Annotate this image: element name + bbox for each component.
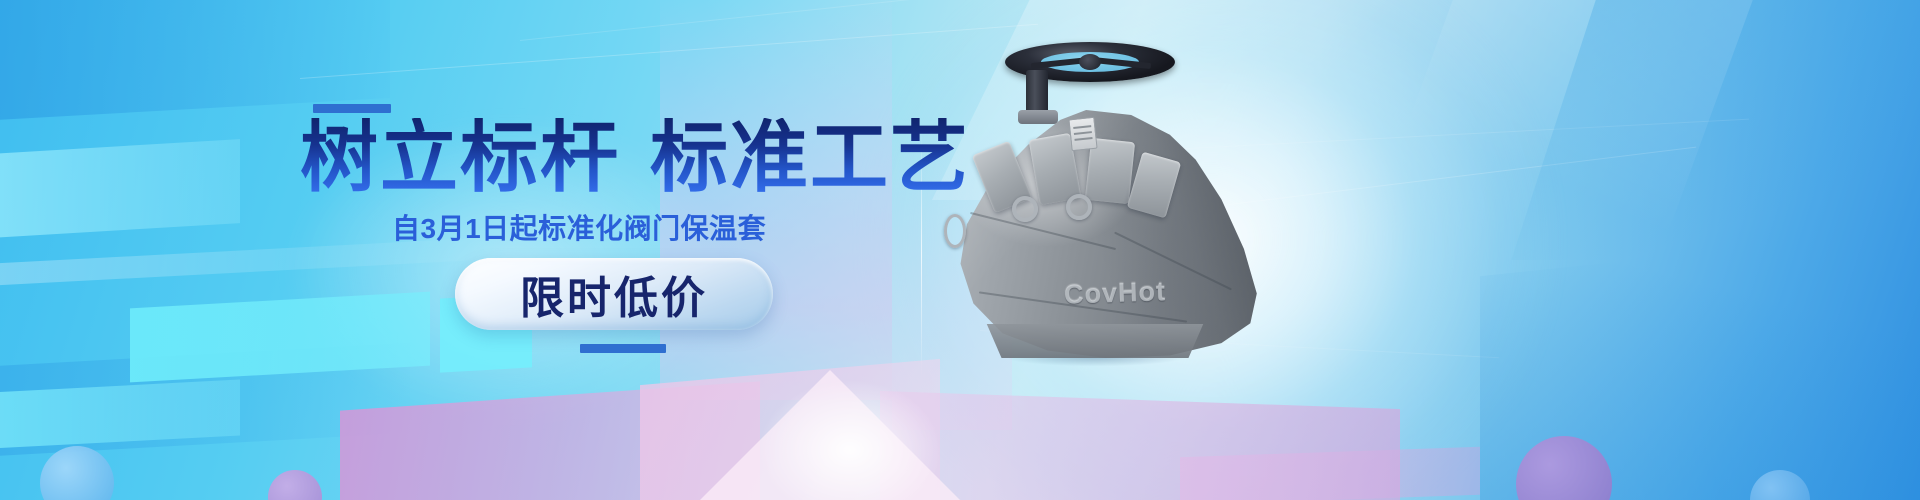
banner-subtitle: 自3月1日起标准化阀门保温套 [392, 215, 766, 243]
brand-emboss-text: CovHot [1063, 276, 1166, 311]
jacket-base-skirt [972, 324, 1218, 358]
d-ring-buckle [1066, 194, 1092, 220]
banner-copy-block: 树立标杆标准工艺 自3月1日起标准化阀门保温套 限时低价 [0, 0, 960, 500]
cta-label: 限时低价 [455, 258, 773, 330]
insulation-jacket-body: CovHot [938, 110, 1260, 358]
banner-headline: 树立标杆标准工艺 [300, 118, 970, 196]
promotional-banner: 树立标杆标准工艺 自3月1日起标准化阀门保温套 限时低价 [0, 0, 1920, 500]
headline-accent-dash [313, 104, 391, 113]
side-loop [944, 214, 966, 248]
tag-line [1073, 125, 1091, 129]
headline-part-2: 标准工艺 [650, 113, 970, 201]
valve-insulation-jacket-image: CovHot [930, 14, 1270, 354]
cta-underline-bar [580, 344, 666, 353]
tag-line [1074, 137, 1092, 141]
product-tag [1068, 117, 1097, 152]
limited-time-price-button[interactable]: 限时低价 [455, 258, 773, 330]
tag-line [1074, 131, 1092, 135]
headline-part-1: 树立标杆 [300, 113, 620, 201]
handwheel-hub [1079, 54, 1101, 70]
bottom-right-bar [1180, 447, 1480, 500]
